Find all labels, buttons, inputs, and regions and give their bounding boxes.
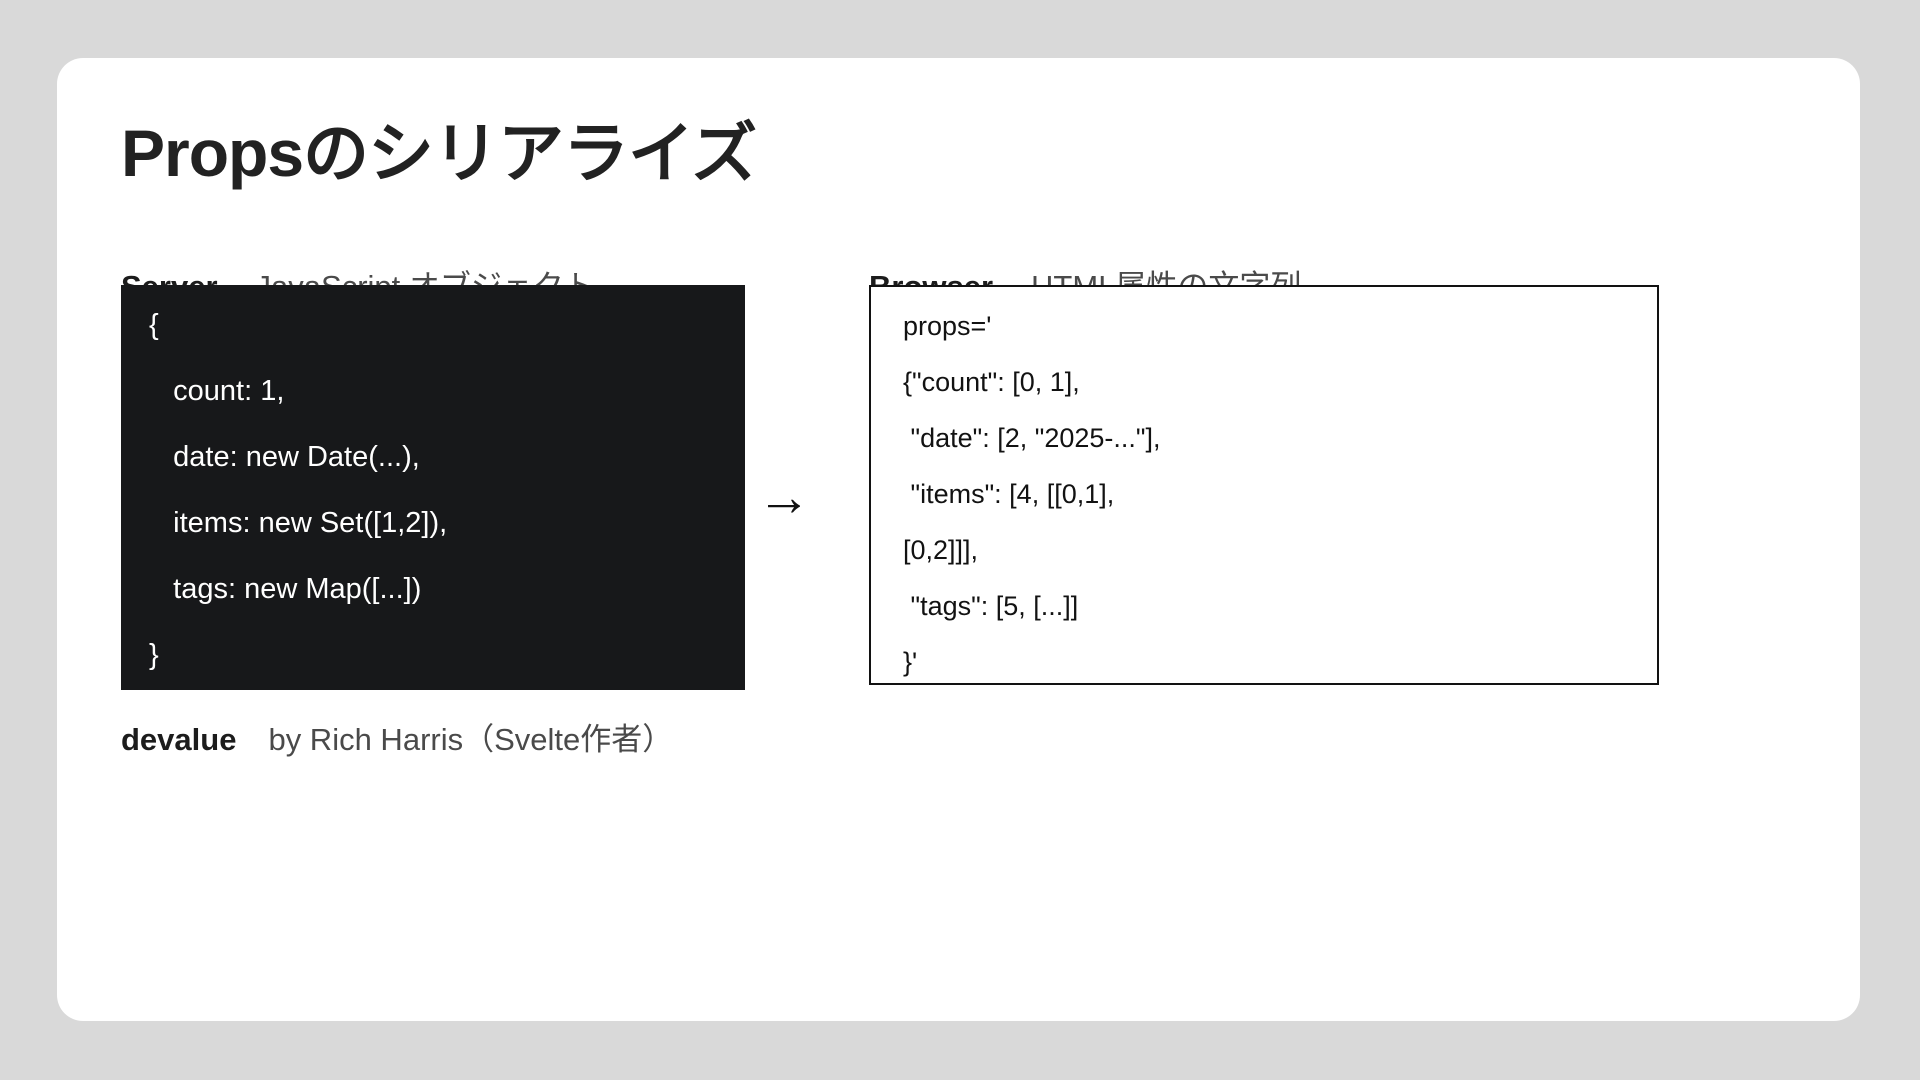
code-line: count: 1, <box>149 377 745 443</box>
library-name: devalue <box>121 722 236 758</box>
browser-code-block: props=' {"count": [0, 1], "date": [2, "2… <box>869 285 1659 685</box>
code-line: "items": [4, [[0,1], <box>903 481 1657 537</box>
code-line: date: new Date(...), <box>149 443 745 509</box>
code-line: } <box>149 641 745 707</box>
code-line: }' <box>903 649 1657 705</box>
page-title: Propsのシリアライズ <box>121 120 756 186</box>
code-line: tags: new Map([...]) <box>149 575 745 641</box>
library-author: by Rich Harris（Svelte作者） <box>268 714 673 759</box>
server-code-block: { count: 1, date: new Date(...), items: … <box>121 285 745 690</box>
code-line: "date": [2, "2025-..."], <box>903 425 1657 481</box>
code-line: [0,2]]], <box>903 537 1657 593</box>
arrow-right-icon: → <box>757 470 811 524</box>
code-line: items: new Set([1,2]), <box>149 509 745 575</box>
slide-card: Propsのシリアライズ Server JavaScript オブジェクト { … <box>57 58 1860 1021</box>
code-line: props=' <box>903 313 1657 369</box>
code-line: "tags": [5, [...]] <box>903 593 1657 649</box>
code-line: { <box>149 311 745 377</box>
footnote: devalue by Rich Harris（Svelte作者） <box>121 714 673 759</box>
code-line: {"count": [0, 1], <box>903 369 1657 425</box>
